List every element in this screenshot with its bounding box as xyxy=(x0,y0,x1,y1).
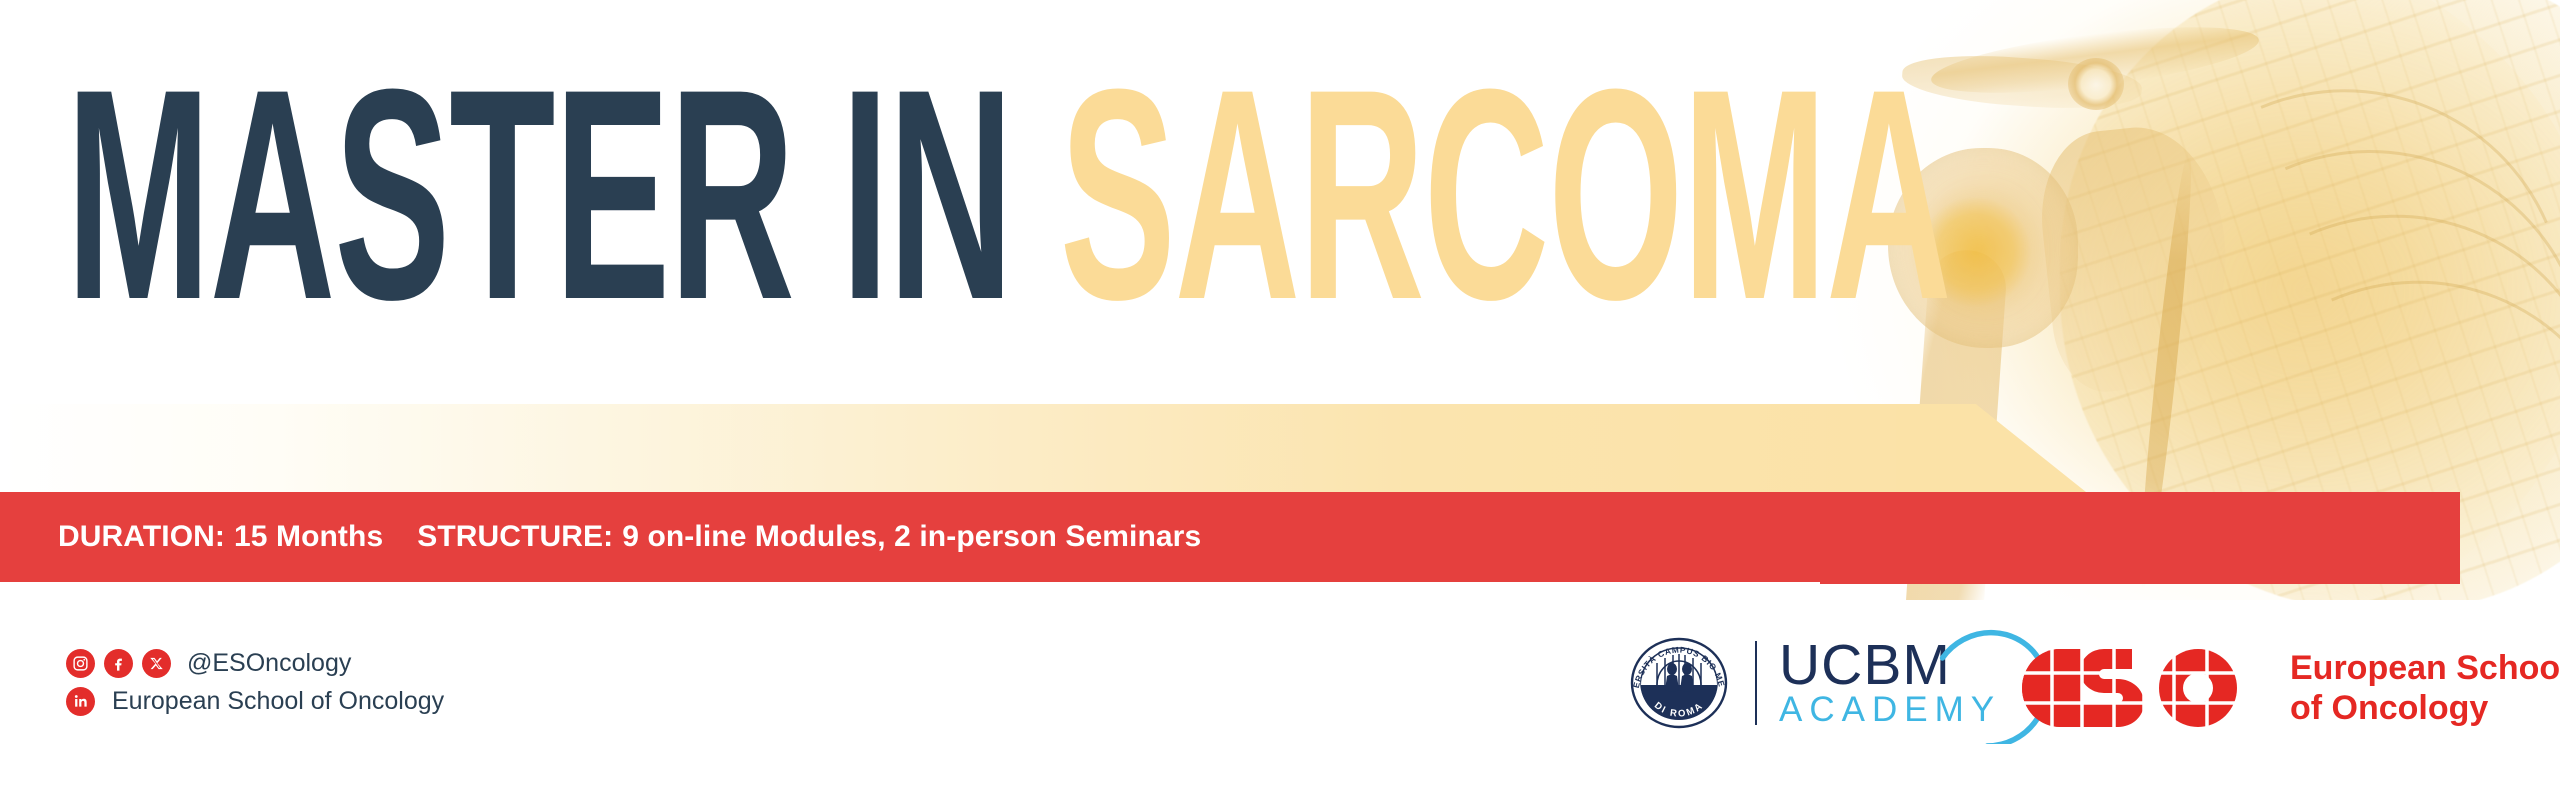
info-bar-text: DURATION: 15 Months STRUCTURE: 9 on-line… xyxy=(58,507,1201,567)
title-accent: SARCOMA xyxy=(1060,26,1951,362)
gold-accent-band-taper xyxy=(1896,404,2086,492)
xray-coracoid xyxy=(2068,58,2124,110)
instagram-icon[interactable] xyxy=(66,649,95,678)
social-row-linkedin: European School of Oncology xyxy=(66,682,444,720)
duration-value: 15 Months xyxy=(234,520,383,554)
structure-value: 9 on-line Modules, 2 in-person Seminars xyxy=(622,520,1201,554)
x-twitter-icon[interactable] xyxy=(142,649,171,678)
ucbm-sub-text: ACADEMY xyxy=(1779,692,2001,728)
eso-wordmark: European School of Oncology xyxy=(2290,648,2560,728)
info-bar-curve xyxy=(1820,492,2460,584)
eso-logo[interactable]: European School of Oncology xyxy=(2022,648,2560,728)
title-primary: MASTER IN xyxy=(66,26,1013,362)
eso-mark-icon xyxy=(2022,649,2252,727)
banner-title: MASTER IN SARCOMA xyxy=(66,44,1951,344)
xray-clavicle xyxy=(1928,14,2262,106)
social-handle-main[interactable]: @ESOncology xyxy=(187,649,351,678)
social-media-block: @ESOncology European School of Oncology xyxy=(66,644,444,720)
xray-glenoid xyxy=(2033,119,2239,396)
ucbm-divider xyxy=(1755,641,1757,725)
structure-label: STRUCTURE: xyxy=(417,520,613,554)
social-handle-linkedin[interactable]: European School of Oncology xyxy=(112,687,444,716)
gold-accent-band xyxy=(0,404,1960,492)
facebook-icon[interactable] xyxy=(104,649,133,678)
eso-line-1: European School xyxy=(2290,648,2560,688)
ucbm-wordmark: UCBM ACADEMY xyxy=(1779,638,2001,728)
social-row-handles: @ESOncology xyxy=(66,644,444,682)
eso-line-2: of Oncology xyxy=(2290,688,2560,728)
master-in-sarcoma-banner: MASTER IN SARCOMA DURATION: 15 Months ST… xyxy=(0,0,2560,789)
ucbm-university-seal-icon: UNIVERSITÀ CAMPUS BIO-MEDICO DI ROMA xyxy=(1627,633,1731,733)
linkedin-icon[interactable] xyxy=(66,687,95,716)
ucbm-academy-logo[interactable]: UNIVERSITÀ CAMPUS BIO-MEDICO DI ROMA UCB… xyxy=(1627,628,2001,738)
duration-label: DURATION: xyxy=(58,520,225,554)
ucbm-main-text: UCBM xyxy=(1779,638,2001,692)
